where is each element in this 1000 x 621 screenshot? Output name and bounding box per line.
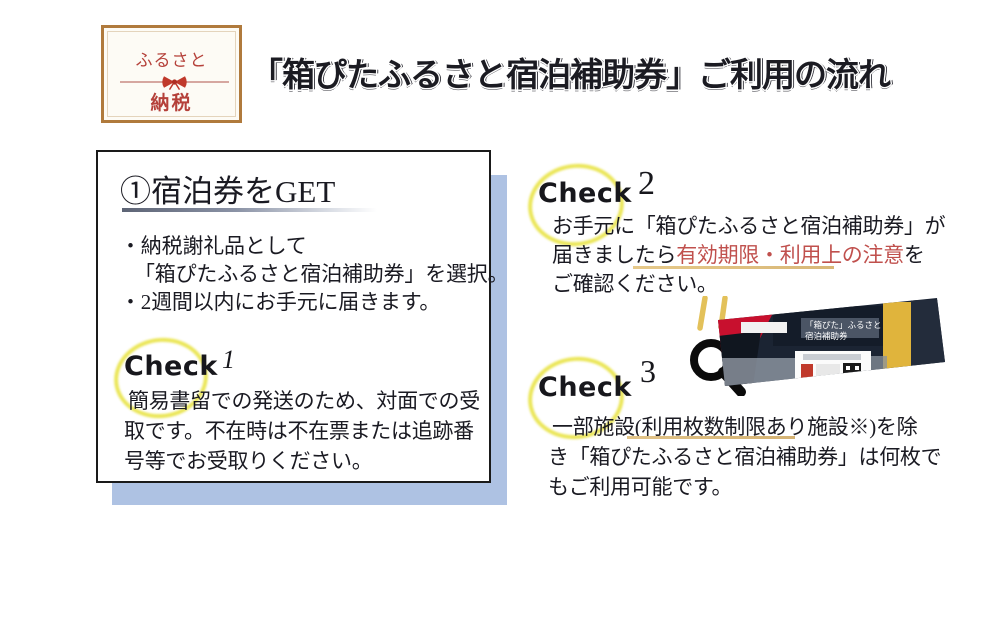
check1-number: 1 <box>222 345 235 375</box>
step1-heading-underline <box>122 208 377 212</box>
bullet-item: ・納税謝礼品として <box>120 230 307 260</box>
check1-label: Check <box>124 351 218 382</box>
check2-text-line: ご確認ください。 <box>552 268 718 298</box>
step1-heading: ①宿泊券をGET <box>120 166 335 211</box>
check2-text-line: お手元に「箱ぴたふるさと宿泊補助券」が <box>552 210 945 240</box>
svg-text:「箱ぴた」ふるさと: 「箱ぴた」ふるさと <box>805 320 882 330</box>
check3-number: 3 <box>640 353 656 390</box>
left-panel: ①宿泊券をGET ・納税謝礼品として 「箱ぴたふるさと宿泊補助券」を選択。 ・2… <box>96 150 491 483</box>
check2-line2-prefix: 届きましたら <box>552 243 676 267</box>
check3-text-line: もご利用可能です。 <box>548 471 732 501</box>
furusato-nozei-logo: ふるさと 納税 <box>101 25 242 123</box>
check3-label: Check <box>538 372 632 403</box>
header: ふるさと 納税 「箱ぴたふるさと宿泊補助券」ご利用の流れ <box>0 0 1000 135</box>
check2-highlight-text: 有効期限・利用上の注意 <box>676 243 904 267</box>
check3-text-line: き「箱ぴたふるさと宿泊補助券」は何枚で <box>548 441 941 471</box>
bullet-item: ・2週間以内にお手元に届きます。 <box>120 286 440 316</box>
check1-text-line: 簡易書留での発送のため、対面での受 <box>128 385 480 415</box>
page-root: ふるさと 納税 「箱ぴたふるさと宿泊補助券」ご利用の流れ ①宿泊券をGET ・納… <box>0 0 1000 621</box>
page-title: 「箱ぴたふるさと宿泊補助券」ご利用の流れ <box>250 48 890 96</box>
check3-underline <box>627 436 795 439</box>
voucher-photo: 「箱ぴた」ふるさと 宿泊補助券 <box>713 296 948 388</box>
check2-line2-suffix: を <box>904 243 925 267</box>
logo-top-text: ふるさと <box>104 46 239 71</box>
check2-number: 2 <box>638 165 655 203</box>
svg-text:宿泊補助券: 宿泊補助券 <box>805 331 848 341</box>
check2-text-line: 届きましたら有効期限・利用上の注意を <box>552 239 925 269</box>
check1-text-line: 取です。不在時は不在票または追跡番 <box>124 415 474 445</box>
check2-label: Check <box>538 178 632 209</box>
check1-text-line: 号等でお受取りください。 <box>124 445 372 475</box>
logo-bottom-text: 納税 <box>104 88 239 115</box>
bullet-item: 「箱ぴたふるさと宿泊補助券」を選択。 <box>134 258 508 288</box>
